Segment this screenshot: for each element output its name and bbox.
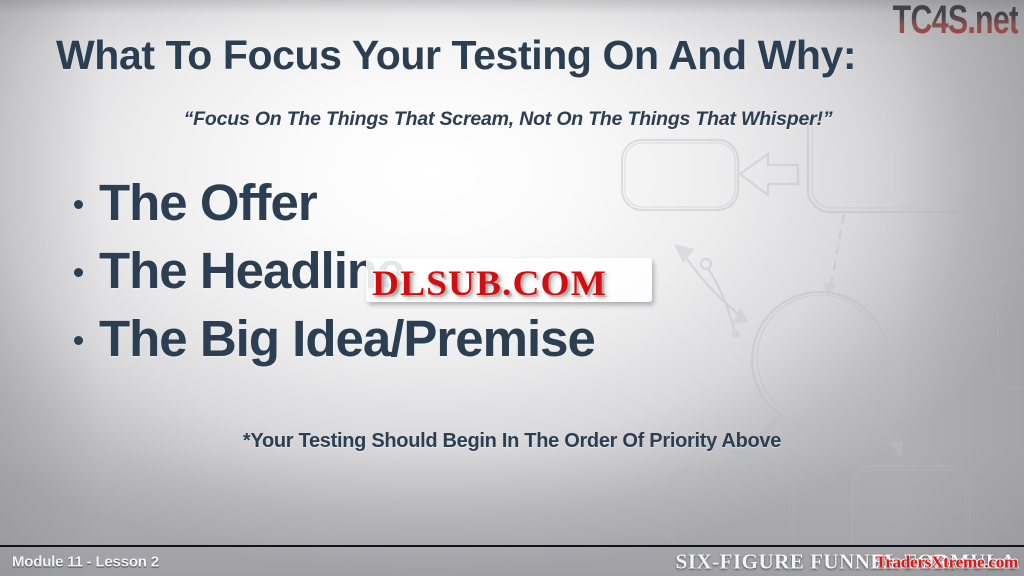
list-item: The Big Idea/Premise: [74, 304, 774, 372]
bullet-label: The Headline: [99, 245, 404, 296]
bullet-label: The Offer: [99, 177, 317, 228]
bullet-dot-icon: [74, 336, 83, 345]
bullet-dot-icon: [74, 268, 83, 277]
watermark-tradersxtreme: TradersXtreme.com: [875, 552, 1018, 572]
list-item: The Offer: [74, 168, 774, 236]
subtitle-quote: “Focus On The Things That Scream, Not On…: [0, 108, 1024, 131]
footnote-text: *Your Testing Should Begin In The Order …: [0, 430, 1024, 453]
watermark-tc4s: TC4S.net: [892, 0, 1018, 43]
slide-canvas: What To Focus Your Testing On And Why: “…: [0, 0, 1024, 576]
module-lesson-label: Module 11 - Lesson 2: [12, 553, 159, 570]
bullet-dot-icon: [74, 200, 83, 209]
page-title: What To Focus Your Testing On And Why:: [56, 32, 856, 79]
bottom-status-bar: Module 11 - Lesson 2 SIX-FIGURE FUNNEL F…: [0, 545, 1024, 576]
watermark-dlsub: DLSUB.COM: [372, 262, 607, 304]
bullet-label: The Big Idea/Premise: [99, 313, 595, 364]
